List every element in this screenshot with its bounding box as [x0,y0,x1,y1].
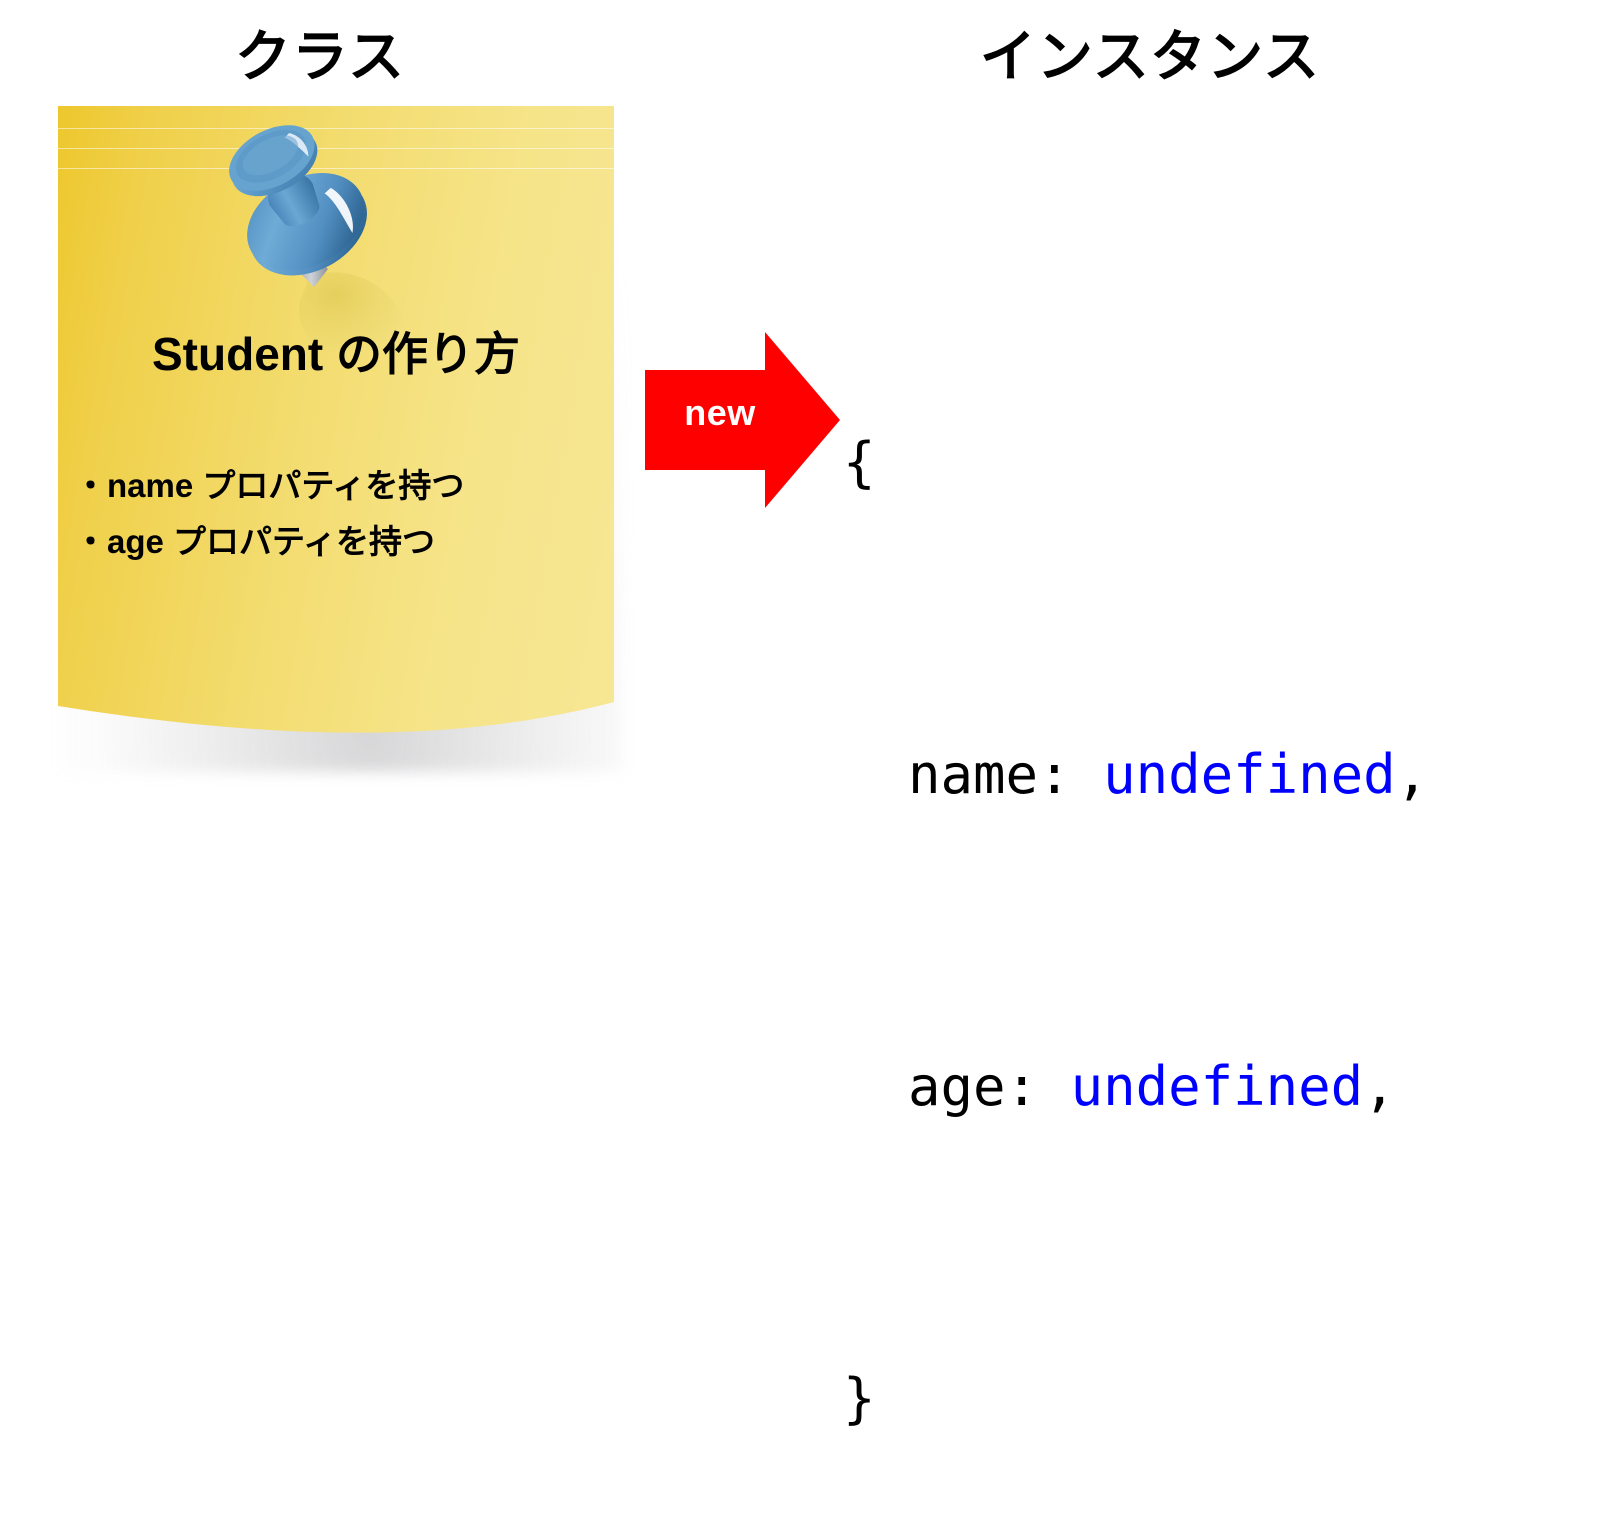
code-open-brace: { [843,431,876,494]
code-close-brace: } [843,1367,876,1430]
instance-heading: インスタンス [780,12,1520,93]
note-bullet-item: ・age プロパティを持つ [68,514,614,570]
code-value-age: undefined [1071,1055,1364,1118]
code-comma: , [1363,1055,1396,1118]
new-arrow-label: new [645,392,795,434]
code-key-age: age: [843,1055,1071,1118]
code-key-name: name: [843,743,1103,806]
instance-code-block: { name: undefined, age: undefined, } [843,268,1428,1516]
class-heading: クラス [0,12,640,93]
code-line-close-brace: } [843,1360,1428,1438]
pushpin-icon [196,101,426,351]
code-comma: , [1396,743,1429,806]
note-bullet-item: ・name プロパティを持つ [68,458,614,514]
sticky-note: Student の作り方 ・name プロパティを持つ ・age プロパティを持… [58,106,614,766]
note-title: Student の作り方 [58,318,614,384]
code-value-name: undefined [1103,743,1396,806]
code-line-open-brace: { [843,424,1428,502]
code-line-name: name: undefined, [843,736,1428,814]
note-paper: Student の作り方 ・name プロパティを持つ ・age プロパティを持… [58,106,614,736]
note-bullet-list: ・name プロパティを持つ ・age プロパティを持つ [68,458,614,570]
code-line-age: age: undefined, [843,1048,1428,1126]
new-arrow: new [645,332,840,508]
